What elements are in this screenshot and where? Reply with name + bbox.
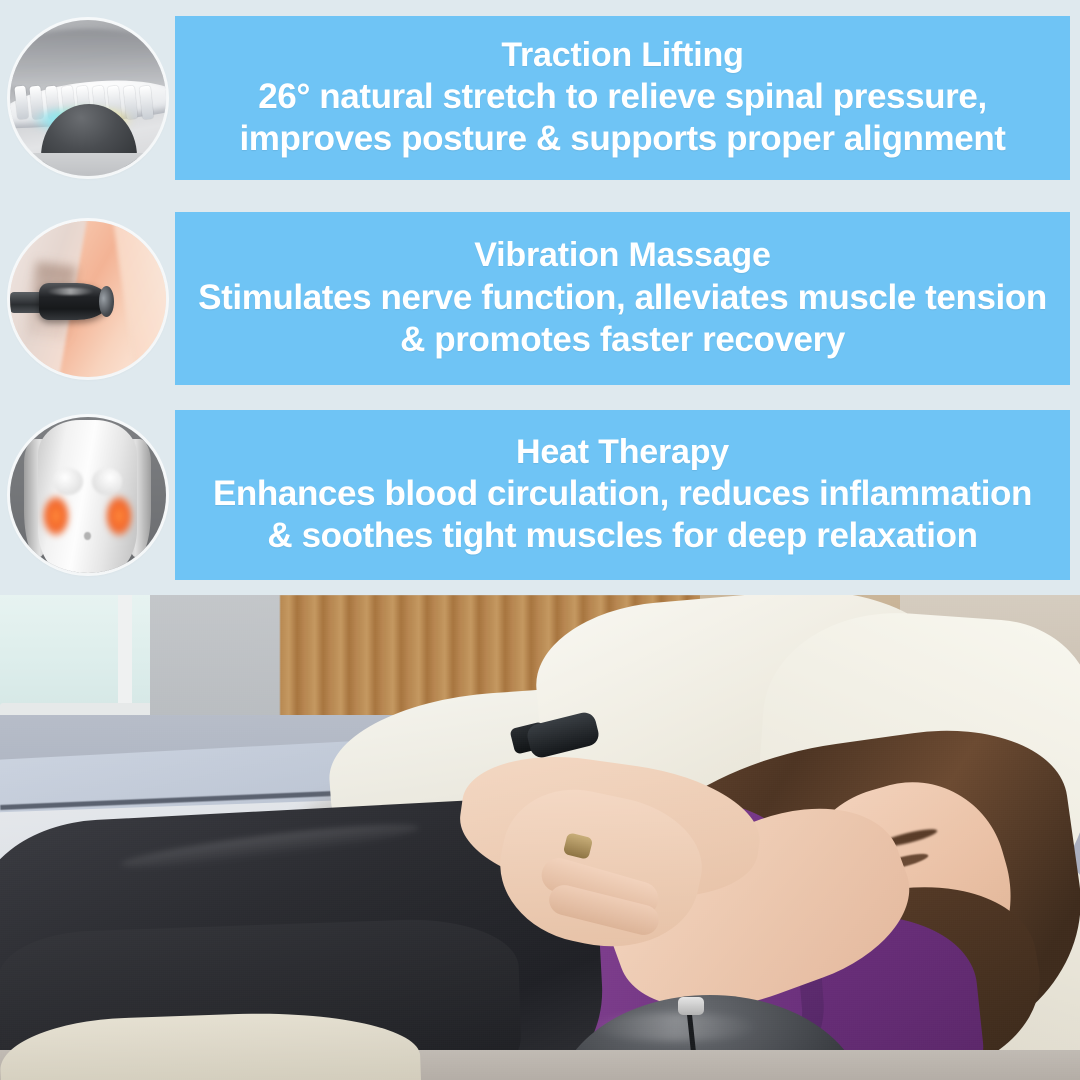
feature-row-heat-therapy: Heat Therapy Enhances blood circulation,… bbox=[0, 410, 1080, 580]
feature-row-vibration-massage: Vibration Massage Stimulates nerve funct… bbox=[0, 212, 1080, 385]
feature-panel-3: Heat Therapy Enhances blood circulation,… bbox=[175, 410, 1070, 580]
feature-description-3-line-1: Enhances blood circulation, reduces infl… bbox=[213, 473, 1032, 515]
feature-panel-2: Vibration Massage Stimulates nerve funct… bbox=[175, 212, 1070, 385]
feature-description-2-line-2: & promotes faster recovery bbox=[198, 319, 1047, 361]
feature-title-1: Traction Lifting bbox=[501, 36, 743, 74]
feature-description-1-line-1: 26° natural stretch to relieve spinal pr… bbox=[239, 76, 1005, 118]
feature-description-1: 26° natural stretch to relieve spinal pr… bbox=[239, 76, 1005, 160]
hero-lifestyle-photo bbox=[0, 595, 1080, 1080]
feature-title-3: Heat Therapy bbox=[516, 433, 729, 471]
feature-description-1-line-2: improves posture & supports proper align… bbox=[239, 118, 1005, 160]
feature-row-traction-lifting: Traction Lifting 26° natural stretch to … bbox=[0, 16, 1080, 180]
product-feature-infographic: Traction Lifting 26° natural stretch to … bbox=[0, 0, 1080, 1080]
feature-panel-1: Traction Lifting 26° natural stretch to … bbox=[175, 16, 1070, 180]
feature-description-2: Stimulates nerve function, alleviates mu… bbox=[198, 277, 1047, 361]
feature-title-2: Vibration Massage bbox=[474, 236, 770, 274]
heat-therapy-icon bbox=[10, 417, 166, 573]
feature-thumbnail-wrap-2 bbox=[0, 212, 175, 385]
feature-thumbnail-wrap-3 bbox=[0, 410, 175, 580]
feature-description-2-line-1: Stimulates nerve function, alleviates mu… bbox=[198, 277, 1047, 319]
vibration-massage-icon bbox=[10, 221, 166, 377]
feature-description-3: Enhances blood circulation, reduces infl… bbox=[213, 473, 1032, 557]
spine-traction-icon bbox=[10, 20, 166, 176]
feature-thumbnail-wrap-1 bbox=[0, 16, 175, 180]
feature-description-3-line-2: & soothes tight muscles for deep relaxat… bbox=[213, 515, 1032, 557]
